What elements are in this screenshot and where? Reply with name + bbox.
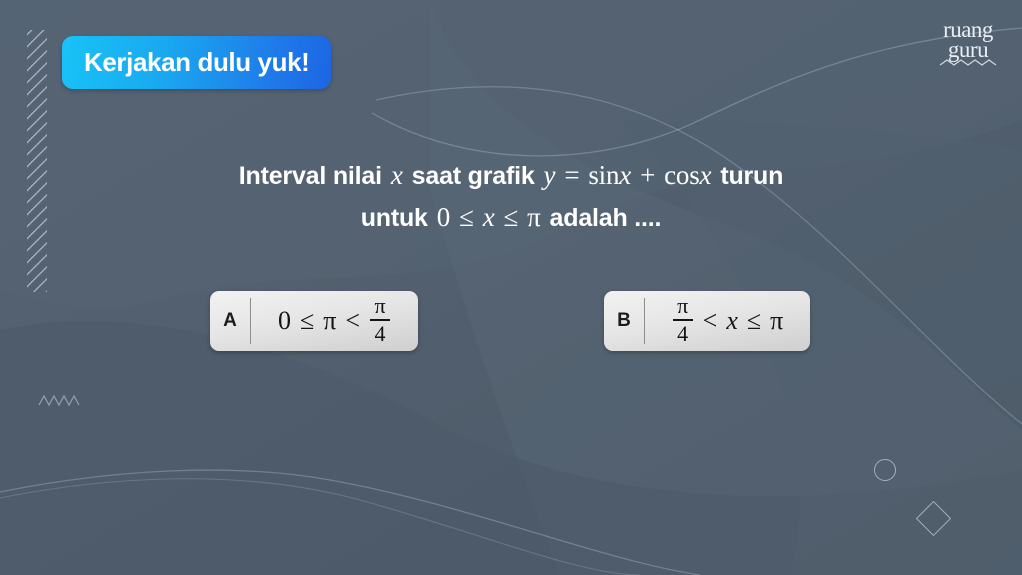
q1-suffix: turun: [720, 162, 783, 190]
circle-outline-decoration: [874, 459, 896, 481]
opt-b-op1: <: [703, 306, 718, 336]
q2-upper: π: [527, 202, 540, 232]
opt-a-op1: ≤: [300, 306, 314, 336]
q1-var: x: [391, 160, 403, 190]
q1-prefix: Interval nilai: [239, 162, 382, 190]
slide-canvas: ruang guru Kerjakan dulu yuk! Interval n…: [0, 0, 1022, 575]
opt-a-left: 0: [278, 306, 291, 336]
option-b-expression: π 4 <x≤π: [645, 296, 810, 346]
q1-formula-var-b: x: [700, 160, 712, 190]
opt-b-frac-numerator: π: [674, 295, 691, 317]
opt-b-middle: x: [726, 306, 738, 336]
option-b-letter: B: [604, 310, 644, 332]
q1-formula-eq: =: [564, 160, 579, 190]
question-line-1: Interval nilaixsaat grafiky=sinx+cosxtur…: [0, 160, 1022, 191]
q2-lower: 0: [437, 202, 450, 232]
q1-formula-sin: sin: [588, 160, 619, 190]
zigzag-decoration: [38, 392, 82, 410]
opt-a-frac-denominator: 4: [372, 323, 389, 345]
answer-option-b[interactable]: B π 4 <x≤π: [604, 291, 810, 351]
opt-b-op2: ≤: [747, 306, 761, 336]
q1-formula-cos: cos: [664, 160, 699, 190]
question-block: Interval nilaixsaat grafiky=sinx+cosxtur…: [0, 160, 1022, 233]
opt-a-fraction: π 4: [370, 295, 390, 345]
opt-b-right: π: [770, 306, 783, 336]
opt-a-middle: π: [323, 306, 336, 336]
opt-b-frac-denominator: 4: [674, 323, 691, 345]
kerjakan-dulu-yuk-badge[interactable]: Kerjakan dulu yuk!: [62, 36, 331, 89]
q1-formula-lhs: y: [544, 160, 556, 190]
answer-option-a[interactable]: A 0≤π< π 4: [210, 291, 418, 351]
opt-a-frac-numerator: π: [371, 295, 388, 317]
q2-op1: ≤: [459, 202, 474, 232]
option-a-expression: 0≤π< π 4: [251, 296, 418, 346]
q1-formula-plus: +: [640, 160, 655, 190]
q2-var: x: [483, 202, 495, 232]
q1-mid: saat grafik: [412, 162, 535, 190]
q1-formula-var-a: x: [619, 160, 631, 190]
question-line-2: untuk0≤x≤πadalah ....: [0, 202, 1022, 233]
diamond-outline-decoration: [916, 501, 951, 536]
ruangguru-logo: ruang guru: [938, 20, 998, 67]
option-a-letter: A: [210, 310, 250, 332]
opt-b-fraction: π 4: [673, 295, 693, 345]
opt-a-op2: <: [345, 306, 360, 336]
q2-op2: ≤: [503, 202, 518, 232]
q2-prefix: untuk: [361, 204, 428, 232]
q2-suffix: adalah ....: [550, 204, 662, 232]
badge-label: Kerjakan dulu yuk!: [84, 47, 309, 78]
